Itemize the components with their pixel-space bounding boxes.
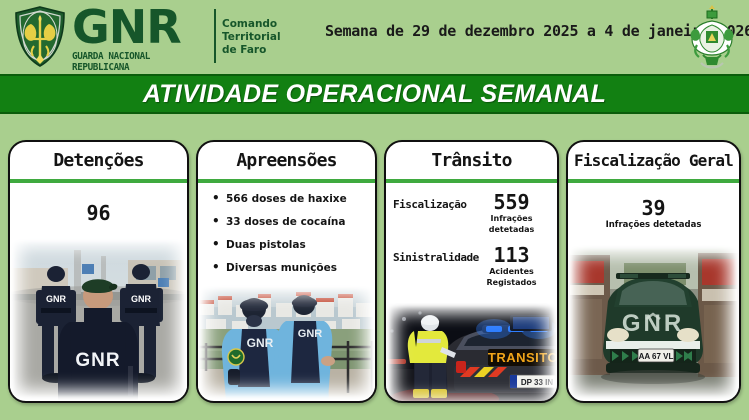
fiscalizacao-geral-photo: GNR [568,245,739,400]
transito-row-sinistralidade: Sinistralidade 113 Acidentes Registados [386,244,557,288]
transito-sinistralidade-values: 113 Acidentes Registados [473,244,550,288]
header-divider [214,9,216,63]
transito-row-fiscalizacao: Fiscalização 559 Infrações detetadas [386,191,557,235]
weekly-operational-activity-infographic: GNR GUARDA NACIONAL REPUBLICANA Comando … [0,0,749,420]
card-detencoes-title: Detenções [10,142,187,179]
card-fiscalizacao-geral-body: 39 Infrações detetadas [568,183,739,400]
detencoes-photo: GNR GNR [10,238,187,400]
svg-text:AA 67 VL: AA 67 VL [639,352,674,361]
gnr-full-name: GUARDA NACIONAL REPUBLICANA [72,51,212,73]
gnr-shield-crest-icon [12,6,68,68]
transito-fiscalizacao-label: Fiscalização [393,191,473,211]
svg-text:GNR: GNR [298,328,323,340]
page-title-banner: ATIVIDADE OPERACIONAL SEMANAL [0,74,749,114]
svg-text:GNR: GNR [46,294,67,304]
list-item: Duas pistolas [210,239,369,252]
transito-fiscalizacao-value: 559 [473,191,550,213]
transito-sinistralidade-label: Sinistralidade [393,244,473,264]
gnr-brand: GNR GUARDA NACIONAL REPUBLICANA [72,4,212,64]
faro-municipal-coat-of-arms-icon [683,3,741,71]
fiscalizacao-geral-caption: Infrações detetadas [568,219,739,231]
card-transito-rule [386,179,557,183]
stat-cards-row: Detenções 96 [0,140,749,412]
card-transito-title: Trânsito [386,142,557,179]
svg-text:TRANSITO: TRANSITO [488,350,557,365]
svg-text:GNR: GNR [75,350,120,371]
transito-fiscalizacao-caption: Infrações detetadas [473,213,550,235]
list-item: 33 doses de cocaína [210,216,369,229]
gnr-green-patrol-car-front-view-photo: GNR [568,245,739,400]
card-apreensoes: Apreensões 566 doses de haxixe 33 doses … [196,140,377,403]
svg-text:GNR: GNR [131,294,152,304]
card-apreensoes-body: 566 doses de haxixe 33 doses de cocaína … [198,183,375,400]
svg-text:DP 33 IN: DP 33 IN [521,378,554,387]
transito-photo: TRANSITO DP 33 IN [386,303,557,403]
card-transito: Trânsito Fiscalização 559 Infrações dete… [384,140,559,403]
apreensoes-photo: GNR GNR [198,285,375,400]
card-fiscalizacao-geral-title: Fiscalização Geral [568,142,739,179]
card-fiscalizacao-geral: Fiscalização Geral 39 Infrações detetada… [566,140,741,403]
unit-line-2: de Faro [222,44,332,57]
detencoes-value: 96 [10,183,187,225]
page-title: ATIVIDADE OPERACIONAL SEMANAL [143,80,606,109]
card-apreensoes-title: Apreensões [198,142,375,179]
transito-sinistralidade-value: 113 [473,244,550,266]
card-transito-body: Fiscalização 559 Infrações detetadas Sin… [386,191,557,403]
list-item: Diversas munições [210,262,369,275]
night-traffic-stop-patrol-car-transito-sign-photo: TRANSITO DP 33 IN [386,303,557,403]
gnr-acronym: GNR [72,4,212,50]
territorial-command-label: Comando Territorial de Faro [222,18,332,57]
fiscalizacao-geral-value: 39 [568,183,739,219]
week-range-label: Semana de 29 de dezembro 2025 a 4 de jan… [325,22,680,40]
unit-line-1: Comando Territorial [222,18,332,44]
card-detencoes: Detenções 96 [8,140,189,403]
two-gnr-officers-overlook-town-photo: GNR GNR [198,285,375,400]
svg-text:GNR: GNR [247,336,274,350]
list-item: 566 doses de haxixe [210,193,369,206]
three-gnr-officers-patrol-photo: GNR GNR [10,238,187,400]
transito-fiscalizacao-values: 559 Infrações detetadas [473,191,550,235]
transito-sinistralidade-caption: Acidentes Registados [473,266,550,288]
card-detencoes-body: 96 [10,183,187,400]
header: GNR GUARDA NACIONAL REPUBLICANA Comando … [0,0,749,74]
apreensoes-list: 566 doses de haxixe 33 doses de cocaína … [198,183,375,275]
